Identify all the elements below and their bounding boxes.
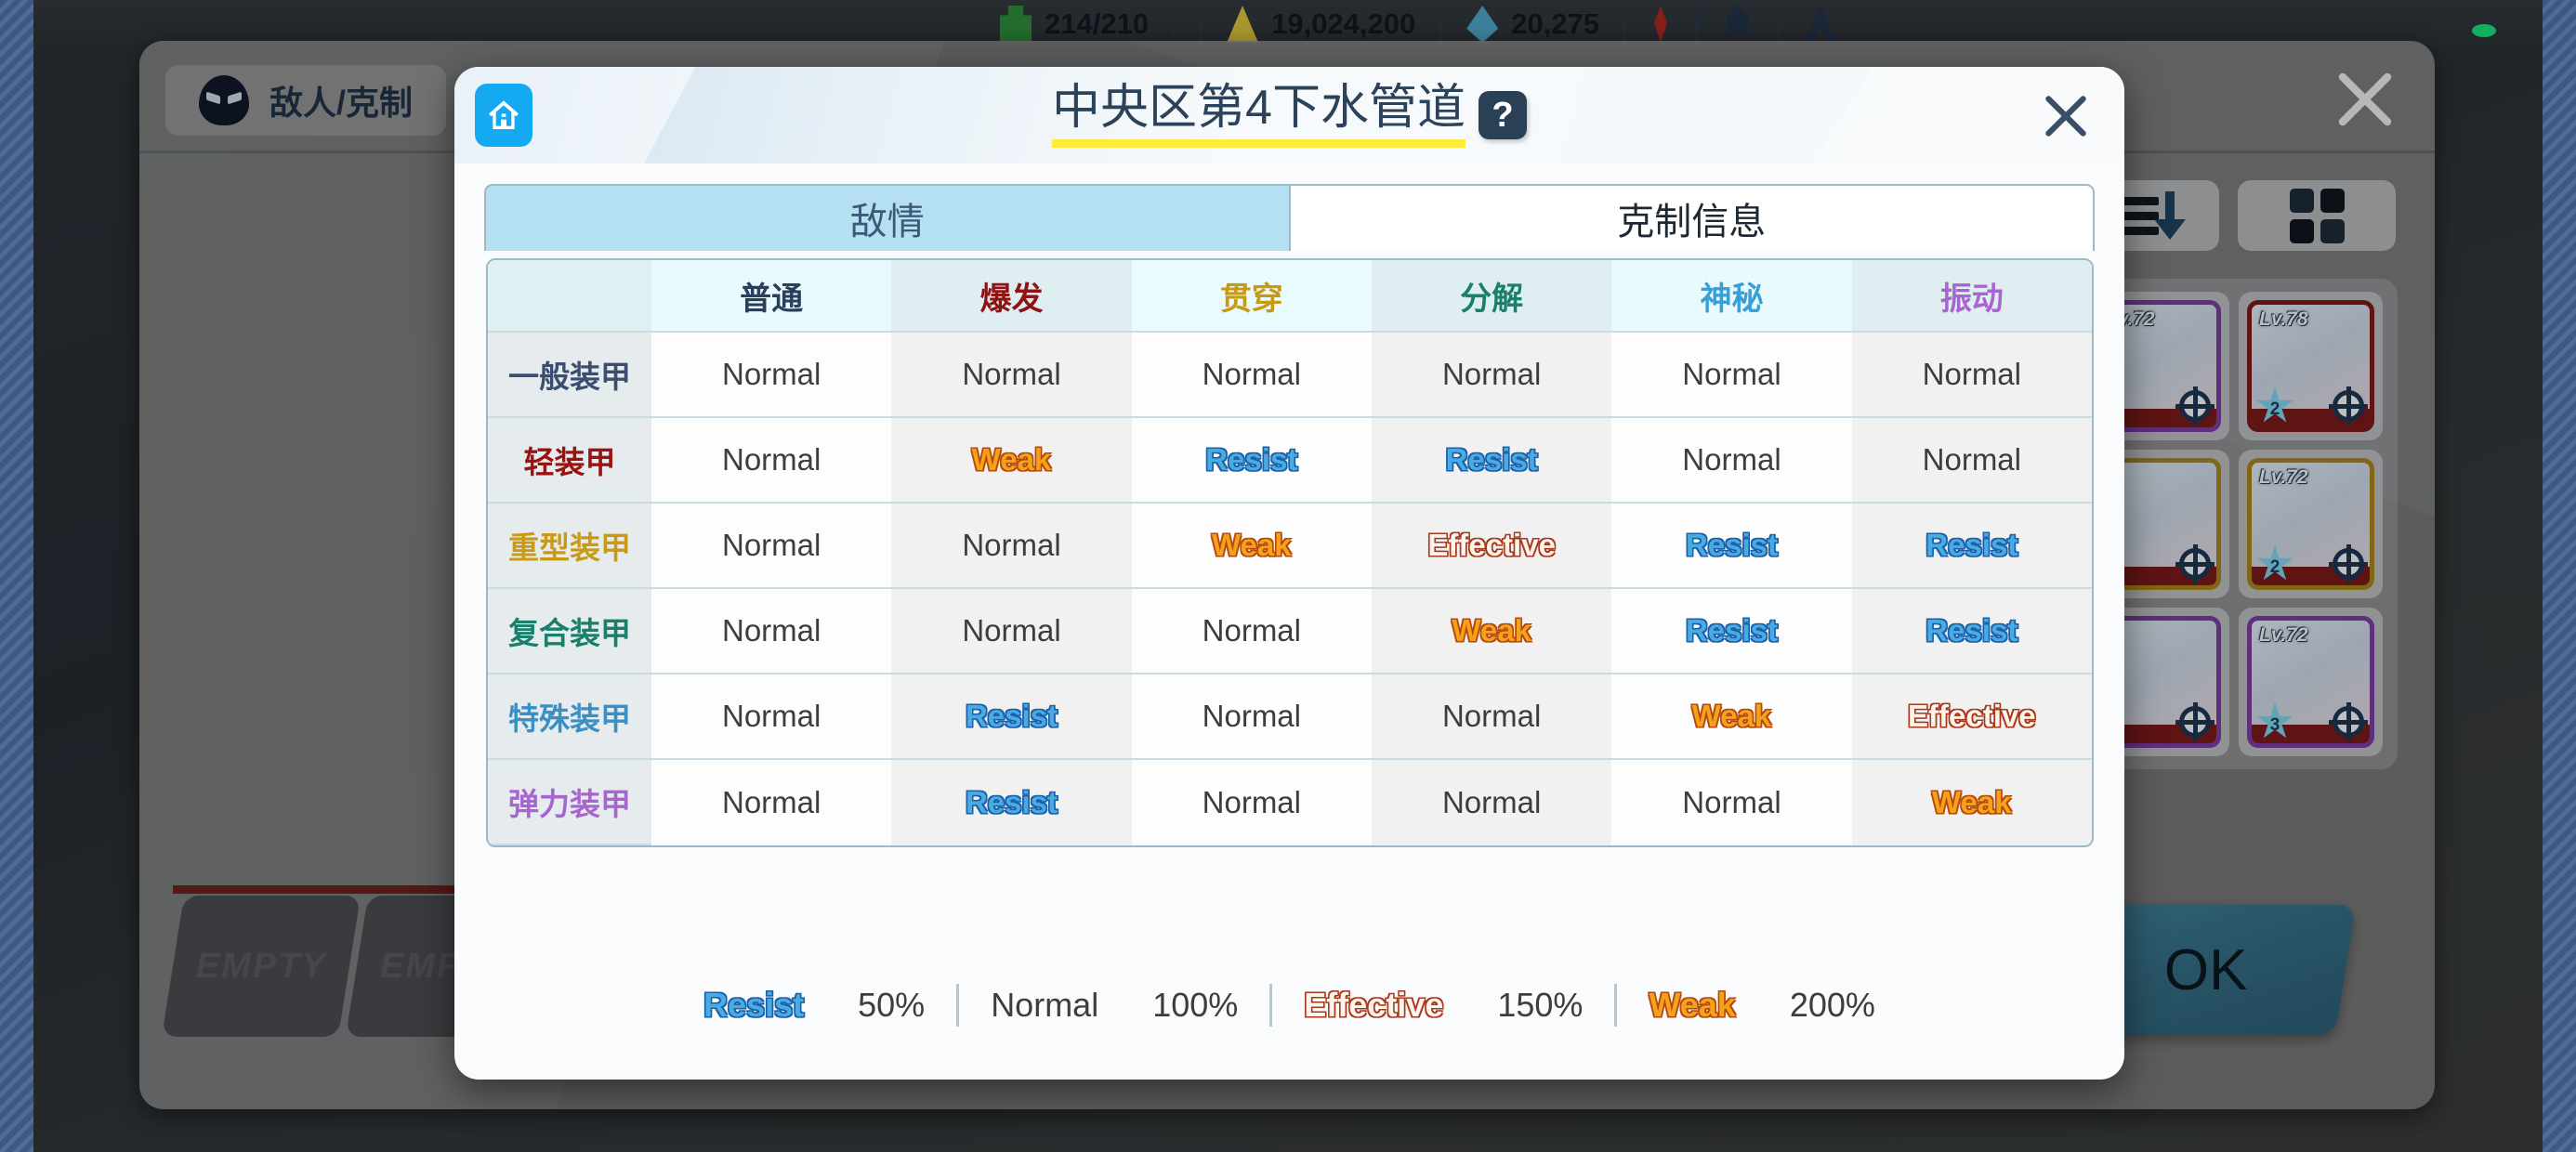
col-label: 贯穿 xyxy=(1220,281,1283,317)
effectiveness-label: Resist xyxy=(1686,613,1778,648)
effectiveness-label: Weak xyxy=(1692,699,1772,733)
legend-divider xyxy=(956,984,959,1027)
matrix-corner-cell xyxy=(488,260,651,333)
col-label: 分解 xyxy=(1460,281,1523,317)
effectiveness-label: Normal xyxy=(962,357,1060,391)
legend-item: Weak200% xyxy=(1649,986,1874,1025)
effectiveness-label: Effective xyxy=(1427,528,1556,562)
effectiveness-label: Resist xyxy=(1205,442,1297,477)
matrix-cell: Normal xyxy=(651,418,891,504)
effectiveness-label: Normal xyxy=(722,442,821,477)
legend-percent: 150% xyxy=(1497,986,1583,1025)
matrix-cell: Weak xyxy=(891,418,1131,504)
effectiveness-label: Normal xyxy=(1682,357,1781,391)
effectiveness-label: Normal xyxy=(722,613,821,648)
matrix-row-header: 重型装甲 xyxy=(488,504,651,589)
matrix-head: 普通 爆发 贯穿 分解 神秘 振动 xyxy=(488,260,2092,333)
tab-enemy-info[interactable]: 敌情 xyxy=(486,186,1289,251)
legend: Resist50%Normal100%Effective150%Weak200% xyxy=(486,975,2093,1035)
effectiveness-label: Normal xyxy=(1682,785,1781,819)
legend-tag: Effective xyxy=(1304,986,1443,1025)
effectiveness-label: Normal xyxy=(1203,699,1301,733)
legend-percent: 100% xyxy=(1152,986,1238,1025)
matrix-cell: Normal xyxy=(651,589,891,674)
dialog-header: 中央区第4下水管道 ? xyxy=(454,67,2124,164)
matrix-cell: Normal xyxy=(891,504,1131,589)
matrix-cell: Normal xyxy=(1372,760,1611,845)
legend-divider xyxy=(1269,984,1272,1027)
matrix-cell: Normal xyxy=(651,333,891,418)
matrix-cell: Weak xyxy=(1132,504,1372,589)
matrix-body: 一般装甲NormalNormalNormalNormalNormalNormal… xyxy=(488,333,2092,845)
matrix-cell: Normal xyxy=(1372,674,1611,760)
effectiveness-label: Weak xyxy=(1932,785,2012,819)
effectiveness-label: Weak xyxy=(1452,613,1531,648)
effectiveness-label: Weak xyxy=(1212,528,1292,562)
help-badge[interactable]: ? xyxy=(1479,91,1527,139)
effectiveness-label: Normal xyxy=(1442,357,1541,391)
matrix-cell: Resist xyxy=(1852,589,2092,674)
matrix-row-header: 一般装甲 xyxy=(488,333,651,418)
matrix-col-header: 振动 xyxy=(1852,260,2092,333)
matrix-cell: Effective xyxy=(1372,504,1611,589)
effectiveness-label: Normal xyxy=(722,528,821,562)
page-title: 中央区第4下水管道 xyxy=(1052,84,1465,148)
tab-counter-info[interactable]: 克制信息 xyxy=(1289,186,2094,251)
effectiveness-label: Normal xyxy=(1682,442,1781,477)
matrix-col-header: 分解 xyxy=(1372,260,1611,333)
matrix-cell: Normal xyxy=(651,674,891,760)
legend-divider xyxy=(1614,984,1617,1027)
legend-tag: Resist xyxy=(703,986,804,1025)
effectiveness-label: Resist xyxy=(966,785,1058,819)
matrix-cell: Resist xyxy=(891,674,1131,760)
matrix-cell: Normal xyxy=(1611,333,1851,418)
dialog-tabs: 敌情 克制信息 xyxy=(484,184,2095,251)
close-icon xyxy=(2037,87,2095,145)
effectiveness-label: Normal xyxy=(1203,613,1301,648)
matrix-col-header: 贯穿 xyxy=(1132,260,1372,333)
matrix-cell: Normal xyxy=(1132,333,1372,418)
effectiveness-label: Normal xyxy=(1442,785,1541,819)
matrix-cell: Normal xyxy=(1852,418,2092,504)
matrix-cell: Normal xyxy=(891,589,1131,674)
matrix-cell: Normal xyxy=(651,504,891,589)
effectiveness-label: Normal xyxy=(962,613,1060,648)
effectiveness-label: Resist xyxy=(966,699,1058,733)
legend-item: Effective150% xyxy=(1304,986,1583,1025)
effectiveness-label: Normal xyxy=(1203,357,1301,391)
matrix-row-header: 轻装甲 xyxy=(488,418,651,504)
matrix-cell: Normal xyxy=(1372,333,1611,418)
effectiveness-label: Effective xyxy=(1908,699,2036,733)
matrix-col-header: 普通 xyxy=(651,260,891,333)
matrix-cell: Normal xyxy=(1611,418,1851,504)
effectiveness-label: Normal xyxy=(1203,785,1301,819)
effectiveness-label: Normal xyxy=(1923,357,2021,391)
effectiveness-label: Weak xyxy=(972,442,1052,477)
effectiveness-label: Normal xyxy=(1923,442,2021,477)
matrix-cell: Resist xyxy=(1372,418,1611,504)
matrix-row-header: 复合装甲 xyxy=(488,589,651,674)
matrix-header-row: 普通 爆发 贯穿 分解 神秘 振动 xyxy=(488,260,2092,333)
table-row: 特殊装甲NormalResistNormalNormalWeakEffectiv… xyxy=(488,674,2092,760)
matrix-col-header: 爆发 xyxy=(891,260,1131,333)
effectiveness-label: Normal xyxy=(962,528,1060,562)
effectiveness-label: Resist xyxy=(1925,528,2017,562)
legend-tag: Normal xyxy=(991,986,1098,1025)
matrix-cell: Normal xyxy=(1132,760,1372,845)
matrix-col-header: 神秘 xyxy=(1611,260,1851,333)
matrix-cell: Weak xyxy=(1852,760,2092,845)
effectiveness-label: Resist xyxy=(1925,613,2017,648)
counter-matrix-table: 普通 爆发 贯穿 分解 神秘 振动 一般装甲NormalNormalNormal… xyxy=(486,258,2094,847)
matrix-cell: Normal xyxy=(1132,589,1372,674)
matrix-cell: Effective xyxy=(1852,674,2092,760)
dialog-close-button[interactable] xyxy=(2037,87,2095,145)
matrix-cell: Resist xyxy=(891,760,1131,845)
effectiveness-label: Normal xyxy=(722,785,821,819)
matrix-cell: Normal xyxy=(1132,674,1372,760)
table-row: 弹力装甲NormalResistNormalNormalNormalWeak xyxy=(488,760,2092,845)
counter-info-dialog: 中央区第4下水管道 ? 敌情 克制信息 普通 爆发 贯穿 分解 神秘 振动 xyxy=(454,67,2124,1080)
matrix-cell: Normal xyxy=(1611,760,1851,845)
effectiveness-label: Resist xyxy=(1686,528,1778,562)
matrix-cell: Normal xyxy=(1852,333,2092,418)
effectiveness-label: Resist xyxy=(1446,442,1538,477)
table-row: 复合装甲NormalNormalNormalWeakResistResist xyxy=(488,589,2092,674)
effectiveness-label: Normal xyxy=(1442,699,1541,733)
effectiveness-label: Normal xyxy=(722,357,821,391)
table-row: 重型装甲NormalNormalWeakEffectiveResistResis… xyxy=(488,504,2092,589)
table-row: 一般装甲NormalNormalNormalNormalNormalNormal xyxy=(488,333,2092,418)
matrix-cell: Resist xyxy=(1611,589,1851,674)
col-label: 爆发 xyxy=(979,281,1043,317)
matrix-cell: Resist xyxy=(1132,418,1372,504)
matrix-cell: Resist xyxy=(1852,504,2092,589)
legend-tag: Weak xyxy=(1649,986,1735,1025)
legend-item: Resist50% xyxy=(703,986,925,1025)
col-label: 振动 xyxy=(1940,281,2004,317)
legend-percent: 50% xyxy=(858,986,925,1025)
legend-percent: 200% xyxy=(1790,986,1875,1025)
col-label: 神秘 xyxy=(1700,281,1763,317)
matrix-cell: Weak xyxy=(1611,674,1851,760)
table-row: 轻装甲NormalWeakResistResistNormalNormal xyxy=(488,418,2092,504)
matrix-cell: Normal xyxy=(651,760,891,845)
legend-item: Normal100% xyxy=(991,986,1238,1025)
matrix-cell: Resist xyxy=(1611,504,1851,589)
matrix-cell: Normal xyxy=(891,333,1131,418)
effectiveness-label: Normal xyxy=(722,699,821,733)
matrix-row-header: 特殊装甲 xyxy=(488,674,651,760)
col-label: 普通 xyxy=(740,281,803,317)
matrix-cell: Weak xyxy=(1372,589,1611,674)
dialog-title-wrap: 中央区第4下水管道 ? xyxy=(454,67,2124,164)
matrix-row-header: 弹力装甲 xyxy=(488,760,651,845)
